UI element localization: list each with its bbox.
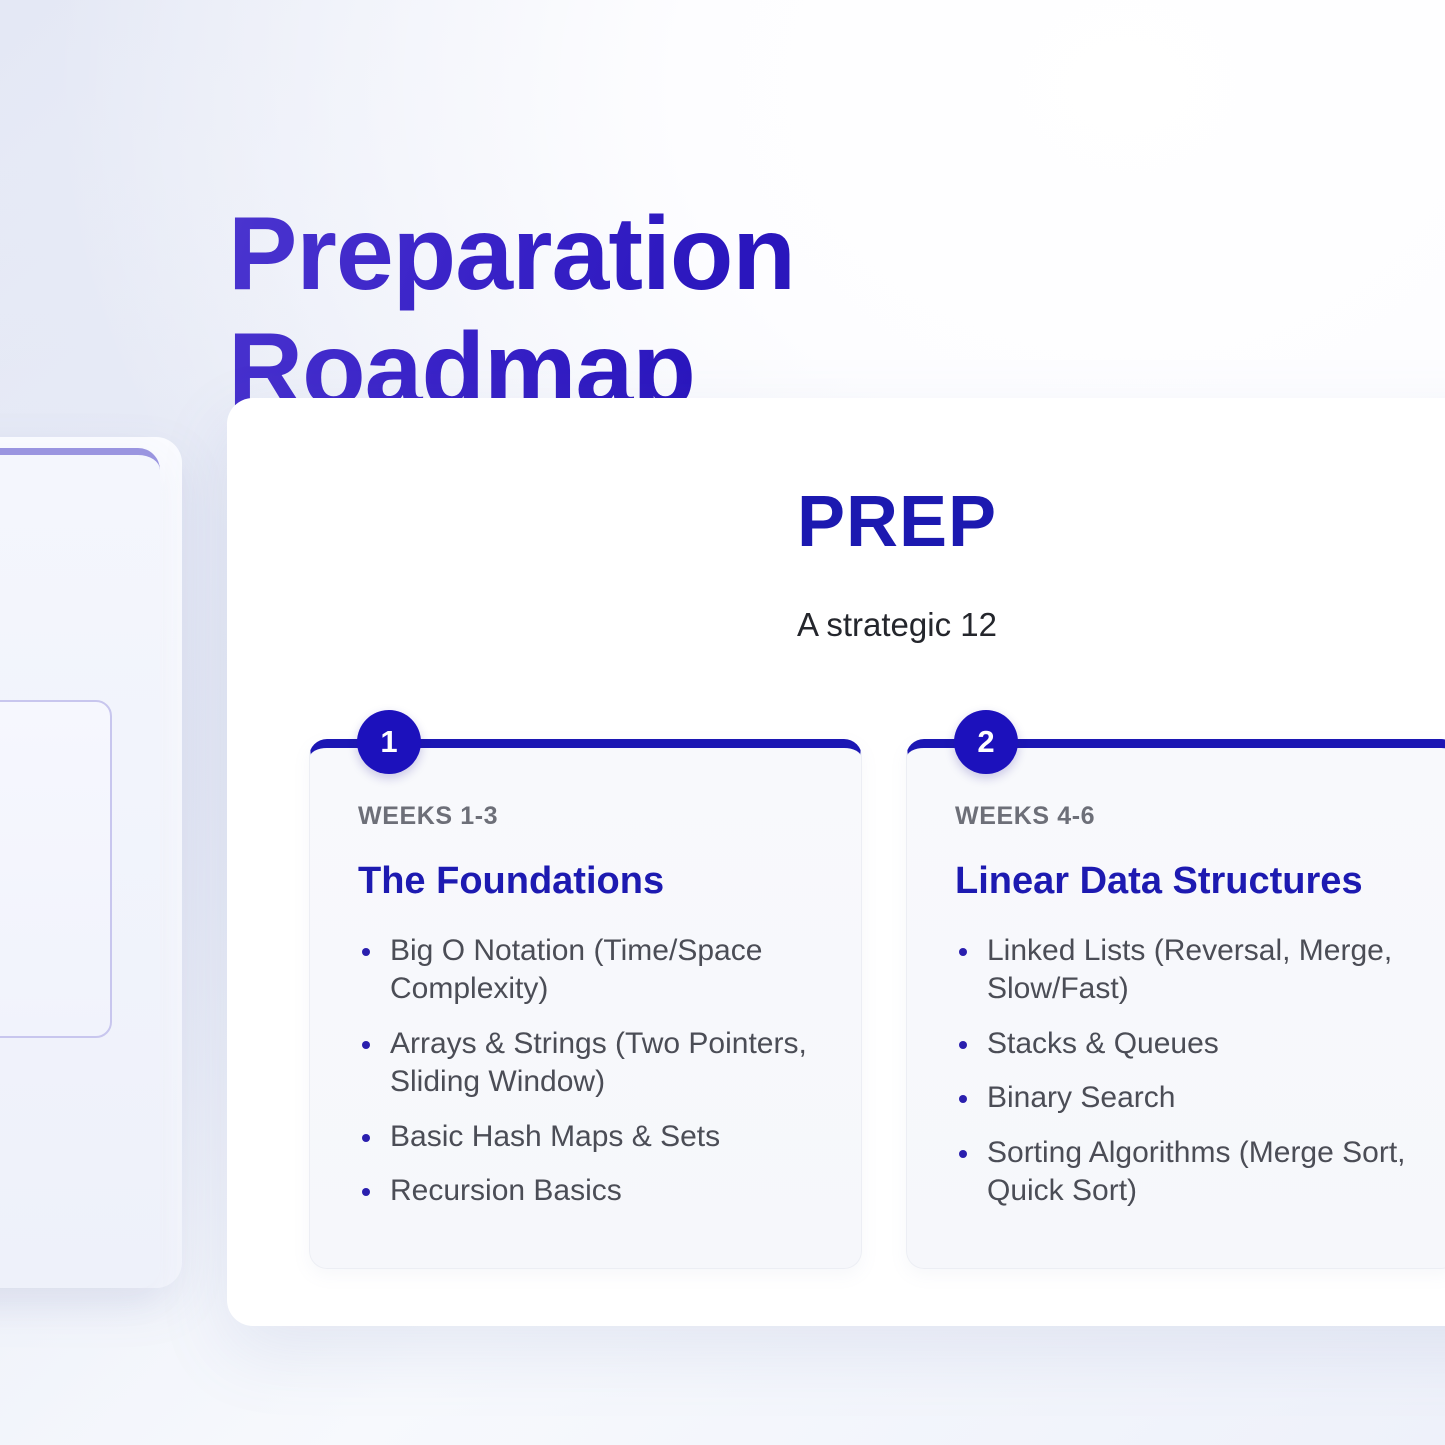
roadmap-step-card[interactable]: 2 WEEKS 4-6 Linear Data Structures Linke… (906, 739, 1445, 1269)
step-title: The Foundations (358, 862, 825, 900)
list-item: Sorting Algorithms (Merge Sort, Quick So… (955, 1134, 1422, 1211)
step-number-badge: 1 (357, 710, 421, 774)
panel-header: PREP A strategic 12 (227, 398, 1445, 641)
step-topic-list: Big O Notation (Time/Space Complexity) A… (358, 932, 825, 1210)
page-title: PreparationRoadmap (228, 196, 1008, 429)
list-item: Binary Search (955, 1079, 1422, 1117)
list-item: Recursion Basics (358, 1172, 825, 1210)
panel-title: PREP (227, 486, 1445, 558)
step-number-badge: 2 (954, 710, 1018, 774)
panel-subtitle: A strategic 12 (227, 608, 1445, 641)
roadmap-panel: PREP A strategic 12 1 WEEKS 1-3 The Foun… (227, 398, 1445, 1326)
background-ghost-outlined-box (0, 700, 112, 1038)
list-item: Stacks & Queues (955, 1025, 1422, 1063)
step-title: Linear Data Structures (955, 862, 1422, 900)
step-topic-list: Linked Lists (Reversal, Merge, Slow/Fast… (955, 932, 1422, 1210)
list-item: Arrays & Strings (Two Pointers, Sliding … (358, 1025, 825, 1102)
step-weeks-label: WEEKS 1-3 (358, 804, 825, 829)
list-item: Basic Hash Maps & Sets (358, 1118, 825, 1156)
list-item: Linked Lists (Reversal, Merge, Slow/Fast… (955, 932, 1422, 1009)
roadmap-step-card[interactable]: 1 WEEKS 1-3 The Foundations Big O Notati… (309, 739, 862, 1269)
page-title-line-1: Preparation (228, 196, 795, 312)
roadmap-steps: 1 WEEKS 1-3 The Foundations Big O Notati… (309, 739, 1445, 1269)
step-weeks-label: WEEKS 4-6 (955, 804, 1422, 829)
list-item: Big O Notation (Time/Space Complexity) (358, 932, 825, 1009)
slide-canvas: PreparationRoadmap PREP A strategic 12 1… (0, 0, 1445, 1445)
